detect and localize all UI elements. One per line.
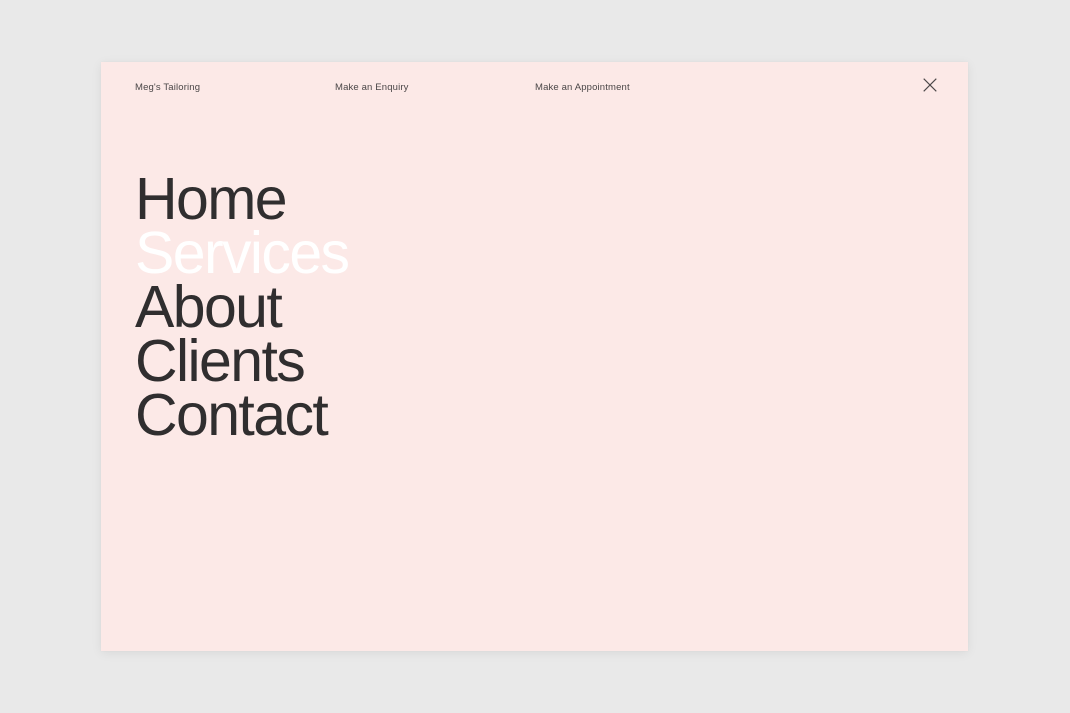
nav-link-make-an-enquiry[interactable]: Make an Enquiry	[335, 81, 409, 94]
close-icon	[923, 78, 937, 92]
menu-item-about[interactable]: About	[135, 280, 348, 334]
brand-link[interactable]: Meg's Tailoring	[135, 81, 200, 94]
menu-item-contact[interactable]: Contact	[135, 388, 348, 442]
top-bar: Meg's Tailoring Make an Enquiry Make an …	[101, 62, 968, 124]
menu-item-services[interactable]: Services	[135, 226, 348, 280]
nav-link-make-an-appointment[interactable]: Make an Appointment	[535, 81, 630, 94]
menu-item-clients[interactable]: Clients	[135, 334, 348, 388]
menu-item-home[interactable]: Home	[135, 172, 348, 226]
main-menu-list: Home Services About Clients Contact	[135, 172, 348, 442]
close-button[interactable]	[917, 72, 943, 98]
navigation-overlay-panel: Meg's Tailoring Make an Enquiry Make an …	[101, 62, 968, 651]
